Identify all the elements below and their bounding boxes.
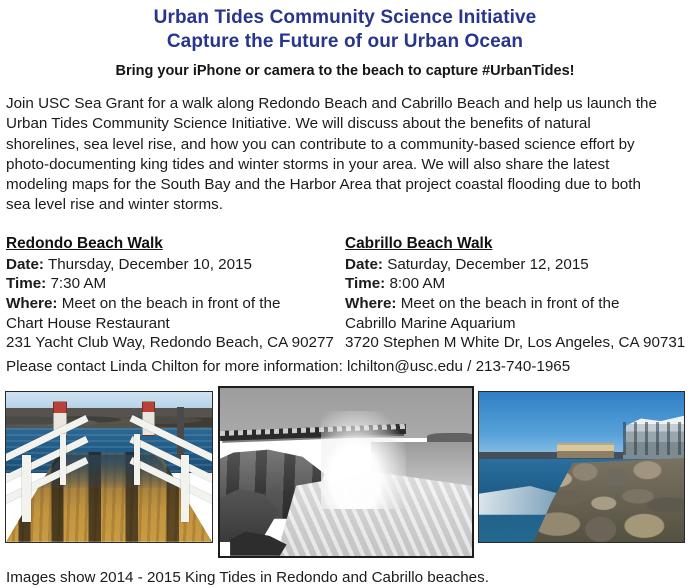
contact-line: Please contact Linda Chilton for more in… xyxy=(6,357,684,377)
building-windows-layer xyxy=(623,422,685,455)
event-address: 3720 Stephen M White Dr, Los Angeles, CA… xyxy=(345,333,690,353)
event-date-line: Date: Saturday, December 12, 2015 xyxy=(345,255,690,275)
photo-content xyxy=(6,392,212,542)
redondo-riprap-shoreline-photo xyxy=(478,391,685,543)
event-time-label: Time: xyxy=(345,275,385,292)
title-block: Urban Tides Community Science Initiative… xyxy=(0,0,690,54)
piling-shape xyxy=(177,407,184,461)
event-date-label: Date: xyxy=(345,256,383,273)
event-date-line: Date: Thursday, December 10, 2015 xyxy=(6,255,346,275)
photo-content xyxy=(479,392,684,542)
event-where-line: Where: Meet on the beach in front of the xyxy=(345,294,690,314)
event-where-label: Where: xyxy=(6,295,57,312)
photo-content xyxy=(220,388,472,556)
breakwater-wave-bw-photo xyxy=(218,386,474,558)
page-subtitle: Bring your iPhone or camera to the beach… xyxy=(0,62,690,81)
page-title-line-1: Urban Tides Community Science Initiative xyxy=(0,6,690,30)
event-redondo-beach-walk: Redondo Beach Walk Date: Thursday, Decem… xyxy=(6,234,346,353)
redondo-pier-walkway-photo xyxy=(5,391,213,543)
event-date-value: Thursday, December 10, 2015 xyxy=(48,256,252,273)
event-address: 231 Yacht Club Way, Redondo Beach, CA 90… xyxy=(6,333,346,353)
intro-paragraph: Join USC Sea Grant for a walk along Redo… xyxy=(6,94,668,216)
event-time-value: 8:00 AM xyxy=(389,275,445,292)
event-time-line: Time: 7:30 AM xyxy=(6,274,346,294)
event-where-line: Where: Meet on the beach in front of the xyxy=(6,294,346,314)
flyer-page: Urban Tides Community Science Initiative… xyxy=(0,0,690,573)
railing-post xyxy=(134,434,140,485)
wave-spray-layer xyxy=(321,411,407,508)
event-heading: Cabrillo Beach Walk xyxy=(345,234,492,254)
event-where-label: Where: xyxy=(345,295,396,312)
event-date-label: Date: xyxy=(6,256,44,273)
event-cabrillo-beach-walk: Cabrillo Beach Walk Date: Saturday, Dece… xyxy=(345,234,690,353)
event-where-value: Meet on the beach in front of the xyxy=(62,295,281,312)
event-time-value: 7:30 AM xyxy=(50,275,106,292)
event-venue: Chart House Restaurant xyxy=(6,314,346,334)
far-land-layer xyxy=(427,433,472,441)
event-time-label: Time: xyxy=(6,275,46,292)
pier-building-layer xyxy=(557,443,614,459)
photo-caption: Images show 2014 - 2015 King Tides in Re… xyxy=(6,568,684,588)
railing-post xyxy=(60,434,66,485)
event-date-value: Saturday, December 12, 2015 xyxy=(387,256,589,273)
photo-strip xyxy=(0,386,690,564)
event-venue: Cabrillo Marine Aquarium xyxy=(345,314,690,334)
page-title-line-2: Capture the Future of our Urban Ocean xyxy=(0,30,690,54)
event-heading: Redondo Beach Walk xyxy=(6,234,163,254)
events-section: Redondo Beach Walk Date: Thursday, Decem… xyxy=(0,234,690,344)
railing-post xyxy=(181,455,189,523)
event-where-value: Meet on the beach in front of the xyxy=(401,295,620,312)
event-time-line: Time: 8:00 AM xyxy=(345,274,690,294)
railing-post xyxy=(22,455,30,523)
